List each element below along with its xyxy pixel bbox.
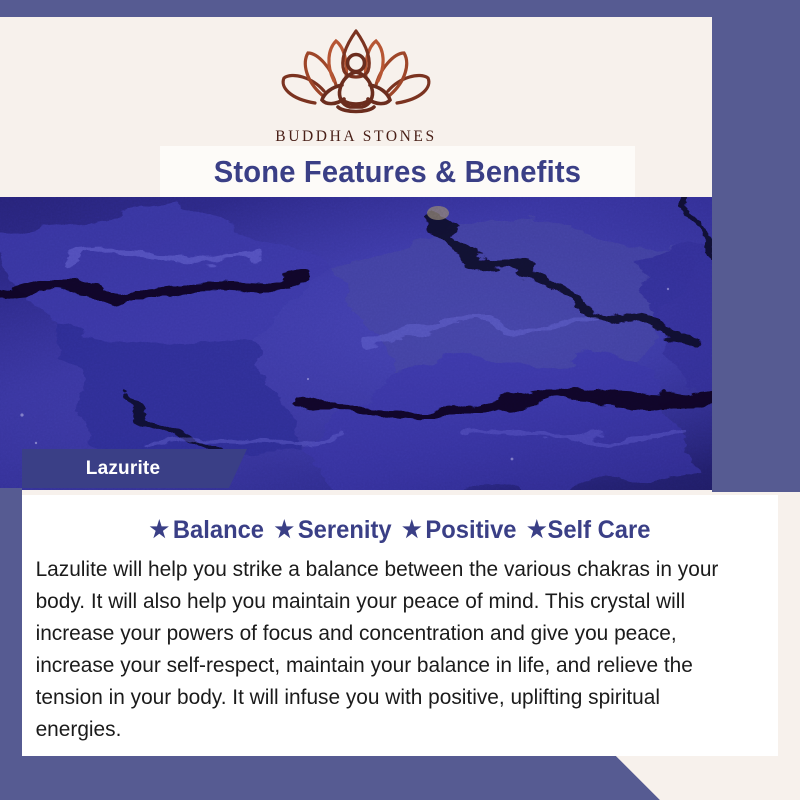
frame-band-top [0, 0, 800, 17]
content-card: ★Balance★Serenity★Positive★Self Care Laz… [22, 495, 778, 760]
stone-name-banner: Lazurite [22, 449, 247, 488]
brand-logo: BUDDHA STONES [0, 25, 712, 146]
keyword-label: Positive [425, 516, 516, 544]
star-icon: ★ [274, 516, 294, 542]
page-title: Stone Features & Benefits [214, 154, 581, 190]
page-title-plaque: Stone Features & Benefits [160, 146, 635, 197]
frame-band-bottom [0, 756, 800, 800]
star-icon: ★ [527, 516, 547, 542]
stone-photo [0, 197, 800, 490]
star-icon: ★ [402, 516, 422, 542]
keyword-item: ★Positive [402, 516, 527, 544]
keyword-list: ★Balance★Serenity★Positive★Self Care [41, 516, 759, 545]
keyword-label: Serenity [298, 516, 392, 544]
keyword-label: Self Care [548, 516, 651, 544]
keyword-item: ★Self Care [527, 516, 651, 544]
star-icon: ★ [150, 516, 170, 542]
stone-description: Lazulite will help you strike a balance … [22, 553, 755, 745]
frame-band-left [0, 488, 22, 800]
frame-band-right [712, 0, 800, 492]
keyword-item: ★Serenity [274, 516, 402, 544]
lotus-meditation-icon [0, 25, 712, 126]
keyword-item: ★Balance [150, 516, 275, 544]
brand-name: BUDDHA STONES [0, 128, 712, 146]
keyword-label: Balance [173, 516, 264, 544]
infographic-poster: BUDDHA STONES [0, 0, 800, 800]
stone-name-label: Lazurite [22, 449, 224, 488]
